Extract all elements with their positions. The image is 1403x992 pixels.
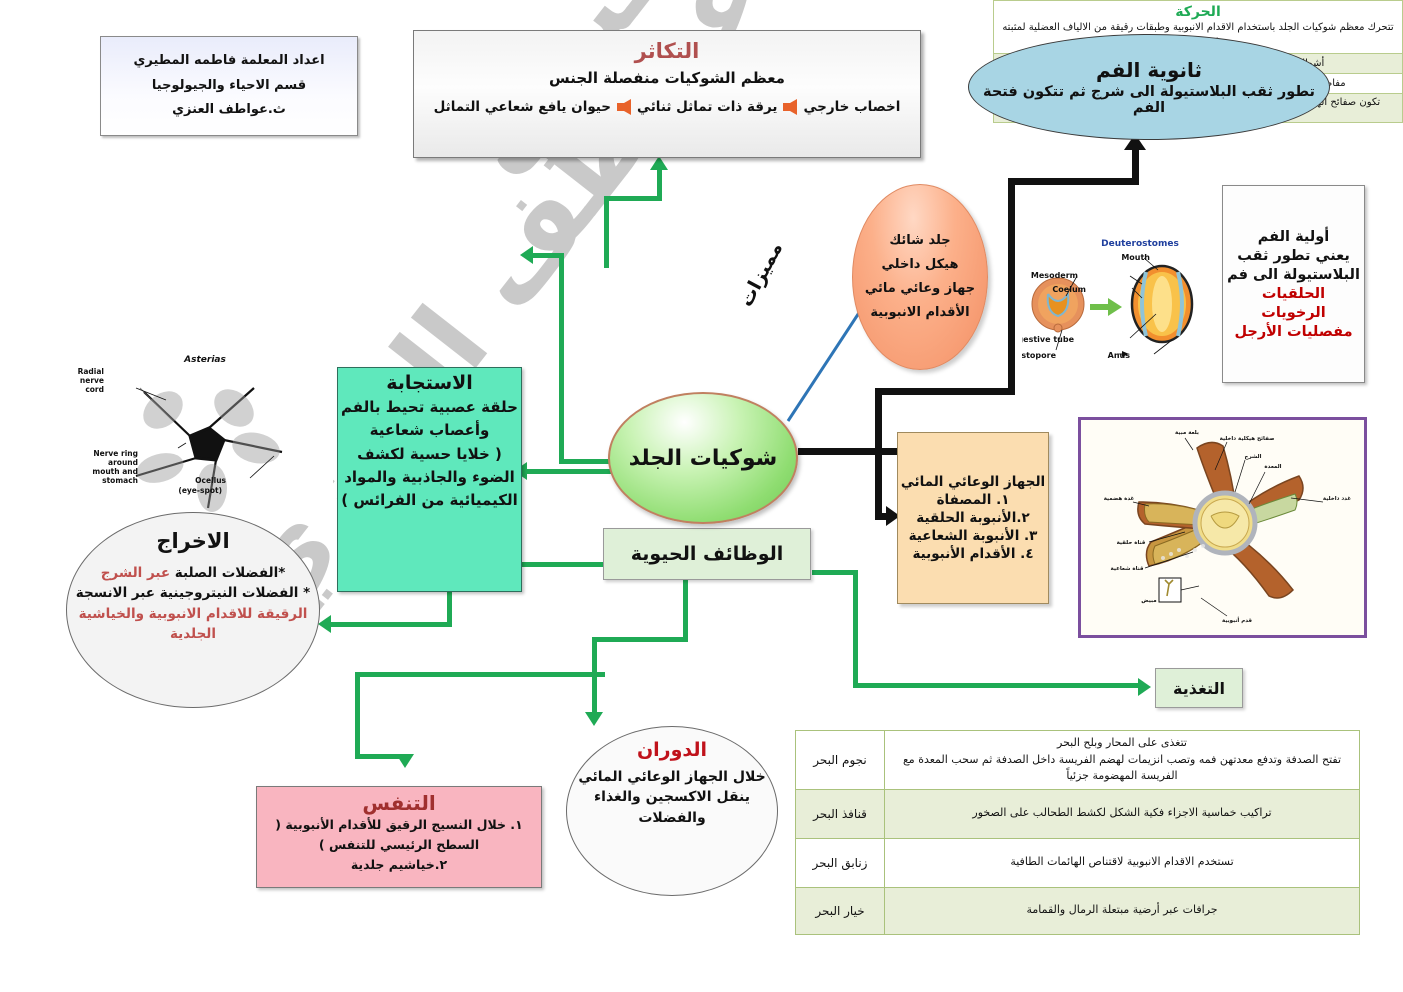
arrow-left-icon-1 — [783, 99, 797, 115]
deutero-label-mouth: Mouth — [1121, 253, 1150, 262]
reproduction-title: التكاثر — [635, 39, 700, 63]
connector-nutrition-v — [853, 570, 858, 686]
connector-respiration-arrow — [396, 754, 414, 768]
response-title: الاستجابة — [386, 372, 473, 394]
arrow-left-icon-2 — [617, 99, 631, 115]
starfish-label-3: المعدة — [1264, 464, 1281, 470]
protostome-black-1: يعني تطور ثقب — [1237, 248, 1350, 264]
protostome-box: أولية الفم يعني تطور ثقب البلاستيولة الى… — [1222, 185, 1365, 383]
starfish-label-7: قناة شعاعية — [1111, 566, 1144, 572]
starfish-label-5: غدة هضمية — [1104, 496, 1135, 502]
excretion-title: الاخراج — [156, 529, 229, 553]
wvs-line-2: ٢.الأنبوبة الحلقية — [916, 510, 1029, 526]
wvs-line-4: ٤. الأقدام الأنبوبية — [912, 546, 1033, 562]
nutrition-table: تتغذى على المحار وبلح البحر تفتح الصدفة … — [795, 730, 1360, 935]
connector-nutrition-h2 — [853, 683, 1139, 688]
connector-circulation-h — [592, 637, 688, 642]
nerve-label-ring-2: around — [108, 458, 138, 467]
response-line-1: وأعصاب شعاعية — [370, 419, 490, 442]
excretion-line-3: الرقيقة للاقدام الانبوبية والخياشية — [79, 604, 308, 624]
circulation-title: الدوران — [637, 739, 707, 761]
nutrition-desc-0: تتغذى على المحار وبلح البحر تفتح الصدفة … — [885, 731, 1360, 790]
excretion-line-2: * الفضلات النيتروجينية عبر الانسجة — [76, 583, 310, 603]
credit-line-3: ث.عواطف العنزي — [172, 98, 286, 123]
connector-black-v-deut — [1132, 148, 1139, 182]
movement-title: الحركة — [999, 4, 1397, 20]
features-ellipse: جلد شائك هيكل داخلي جهاز وعائي مائي الأق… — [852, 184, 988, 370]
nerve-label-radial: Radial — [78, 367, 104, 376]
respiration-title: التنفس — [362, 791, 435, 815]
respiration-line-1: ٢.خياشيم جلدية — [351, 855, 447, 875]
excretion-line-1: *الفضلات الصلبة عبر الشرج — [101, 563, 286, 583]
connector-move-h2 — [559, 459, 611, 464]
nerve-label-ocellus-1: Ocellus — [195, 476, 226, 485]
table-row: تستخدم الاقدام الانبوبية لاقتناص الهائما… — [796, 838, 1360, 887]
protostome-black-0: أولية الفم — [1258, 229, 1329, 245]
circulation-line-1: ينقل الاكسجين والغذاء — [594, 787, 750, 807]
respiration-line-0: ١. خلال النسيج الرقيق للأقدام الأنبوبية … — [257, 815, 541, 855]
connector-excretion-h — [330, 622, 452, 627]
water-vascular-system-box: الجهاز الوعائي المائي ١. المصفاة ٢.الأنب… — [897, 432, 1049, 604]
nutrition-name-3: خيار البحر — [796, 887, 885, 934]
starfish-label-4: غدد داخلية — [1323, 496, 1351, 502]
connector-nutrition-arrow — [1138, 678, 1151, 696]
table-row: جرافات عبر أرضية مبتعلة الرمال والقمامة … — [796, 887, 1360, 934]
connector-repro-h — [604, 196, 662, 201]
connector-move-v — [559, 253, 564, 463]
deuterostome-title: ثانوية الفم — [1096, 58, 1202, 82]
circulation-line-2: والفضلات — [638, 808, 705, 828]
nerve-label-nerve: nerve — [80, 376, 104, 385]
reproduction-flow-1: يرقة ذات تماثل ثنائي — [637, 99, 777, 115]
excretion-line-1b: عبر الشرج — [101, 565, 170, 581]
connector-response-h — [527, 469, 611, 474]
excretion-line-1a: *الفضلات الصلبة — [170, 565, 285, 581]
connector-circulation-v2 — [592, 637, 597, 715]
vital-functions-box: الوظائف الحيوية — [603, 528, 811, 580]
starfish-label-8: مبيض — [1141, 598, 1156, 604]
table-row: تراكيب خماسية الاجزاء فكية الشكل لكشط ال… — [796, 789, 1360, 838]
wvs-line-1: ١. المصفاة — [937, 492, 1010, 508]
connector-circulation-arrow — [585, 712, 603, 726]
starfish-anatomy-diagram: بلعة مبية صفائح هيكلية داخلية الشرج المع… — [1078, 417, 1367, 638]
reproduction-flow: اخصاب خارجي يرقة ذات تماثل ثنائي حيوان ي… — [434, 99, 901, 115]
deutero-label-blastopore: Blastopore — [1022, 351, 1057, 360]
credit-line-1: اعداد المعلمة فاطمه المطيري — [133, 49, 324, 74]
wvs-line-3: ٣. الأنبوبة الشعاعية — [909, 528, 1038, 544]
circulation-line-0: خلال الجهاز الوعائي المائي — [578, 767, 765, 787]
mindmap-canvas: الاحياء فاطمة المطيري ث.عواطف العنزي — [0, 0, 1403, 992]
nutrition-label: التغذية — [1173, 679, 1225, 698]
response-box: الاستجابة حلقة عصبية تحيط بالفم وأعصاب ش… — [337, 367, 522, 592]
starfish-label-6: قناة حلقية — [1117, 540, 1146, 546]
features-line-3: الأقدام الانبوبية — [870, 301, 969, 325]
response-line-4: الكيميائية من الفرائس ) — [341, 489, 517, 512]
reproduction-flow-2: حيوان يافع شعاعي التماثل — [434, 99, 611, 115]
reproduction-subtitle: معظم الشوكيات منفصلة الجنس — [549, 69, 785, 87]
central-topic-ellipse: شوكيات الجلد — [608, 392, 798, 524]
reproduction-box: التكاثر معظم الشوكيات منفصلة الجنس اخصاب… — [413, 30, 921, 158]
excretion-line-4: الجلدية — [170, 624, 216, 644]
protostome-red-0: الحلقيات — [1262, 286, 1325, 302]
central-title: شوكيات الجلد — [629, 446, 778, 471]
table-row: تتغذى على المحار وبلح البحر تفتح الصدفة … — [796, 731, 1360, 790]
reproduction-flow-0: اخصاب خارجي — [803, 99, 900, 115]
connector-circulation-v — [683, 580, 688, 640]
protostome-red-1: الرخويات — [1261, 305, 1325, 321]
starfish-label-9: قدم أنبوبية — [1222, 616, 1252, 624]
deutero-label-anus: Anus — [1108, 351, 1131, 360]
response-line-0: حلقة عصبية تحيط بالفم — [341, 396, 518, 419]
nutrition-desc-1: تراكيب خماسية الاجزاء فكية الشكل لكشط ال… — [885, 789, 1360, 838]
deutero-image-title: Deuterostomes — [1101, 239, 1179, 249]
connector-respiration-v — [355, 672, 360, 758]
starfish-label-0: بلعة مبية — [1175, 430, 1199, 436]
nerve-label-ring-3: mouth and — [92, 467, 138, 476]
nutrition-name-2: زنابق البحر — [796, 838, 885, 887]
circulation-circle: الدوران خلال الجهاز الوعائي المائي ينقل … — [566, 726, 778, 896]
features-line-0: جلد شائك — [889, 229, 950, 253]
author-credit-box: اعداد المعلمة فاطمه المطيري قسم الاحياء … — [100, 36, 358, 136]
connector-excretion-arrow — [318, 615, 331, 633]
vital-functions-title: الوظائف الحيوية — [631, 543, 784, 565]
connector-black-v-wvs — [875, 448, 882, 520]
nerve-label-cord: cord — [85, 385, 104, 394]
connector-black-h-deut — [1008, 178, 1139, 185]
features-line-2: جهاز وعائي مائي — [865, 277, 975, 301]
connector-move-arrow — [520, 246, 533, 264]
connector-repro-v2 — [657, 168, 662, 200]
nutrition-name-1: قنافذ البحر — [796, 789, 885, 838]
protostome-red-2: مفصليات الأرجل — [1234, 324, 1352, 340]
connector-black-h-top — [875, 388, 1015, 395]
connector-repro-v — [604, 200, 609, 268]
credit-line-2: قسم الاحياء والجيولوجيا — [152, 74, 306, 99]
connector-nutrition-h — [812, 570, 858, 575]
nutrition-desc-2: تستخدم الاقدام الانبوبية لاقتناص الهائما… — [885, 838, 1360, 887]
nerve-label-ocellus-2: (eye-spot) — [178, 486, 222, 495]
response-line-3: الضوء والجاذبية والمواد — [344, 466, 515, 489]
nerve-label-ring-4: stomach — [102, 476, 138, 485]
response-line-2: ( خلايا حسية لكشف — [357, 443, 502, 466]
protostome-black-2: البلاستيولة الى فم — [1227, 267, 1360, 283]
connector-repro-arrow — [650, 156, 668, 170]
nerve-label-ring-1: Nerve ring — [93, 449, 138, 458]
deutero-label-mesoderm: Mesoderm — [1031, 271, 1078, 280]
asterias-nerve-diagram: Asterias Radial nerve — [78, 348, 333, 520]
features-edge-label: مميزات — [735, 238, 787, 310]
starfish-label-2: الشرج — [1245, 454, 1262, 460]
deutero-label-digestive: Digestive tube — [1022, 335, 1075, 344]
respiration-box: التنفس ١. خلال النسيج الرقيق للأقدام الأ… — [256, 786, 542, 888]
nutrition-name-0: نجوم البحر — [796, 731, 885, 790]
starfish-label-1: صفائح هيكلية داخلية — [1220, 435, 1275, 442]
nerve-image-title: Asterias — [183, 355, 226, 365]
deuterostome-ellipse: ثانوية الفم تطور ثقب البلاستيولة الى شرج… — [968, 34, 1330, 140]
nutrition-label-box: التغذية — [1155, 668, 1243, 708]
nutrition-desc-3: جرافات عبر أرضية مبتعلة الرمال والقمامة — [885, 887, 1360, 934]
excretion-circle: الاخراج *الفضلات الصلبة عبر الشرج * الفض… — [66, 512, 320, 708]
connector-respiration-h — [355, 672, 605, 677]
features-line-1: هيكل داخلي — [882, 253, 959, 277]
wvs-line-0: الجهاز الوعائي المائي — [901, 474, 1045, 490]
deuterostome-subtitle: تطور ثقب البلاستيولة الى شرج ثم تتكون فت… — [969, 84, 1329, 116]
connector-black-v-top — [1008, 178, 1015, 393]
deuterostome-development-diagram: Deuterostomes Mouth Mesoderm Coelum Dige… — [1022, 222, 1207, 367]
